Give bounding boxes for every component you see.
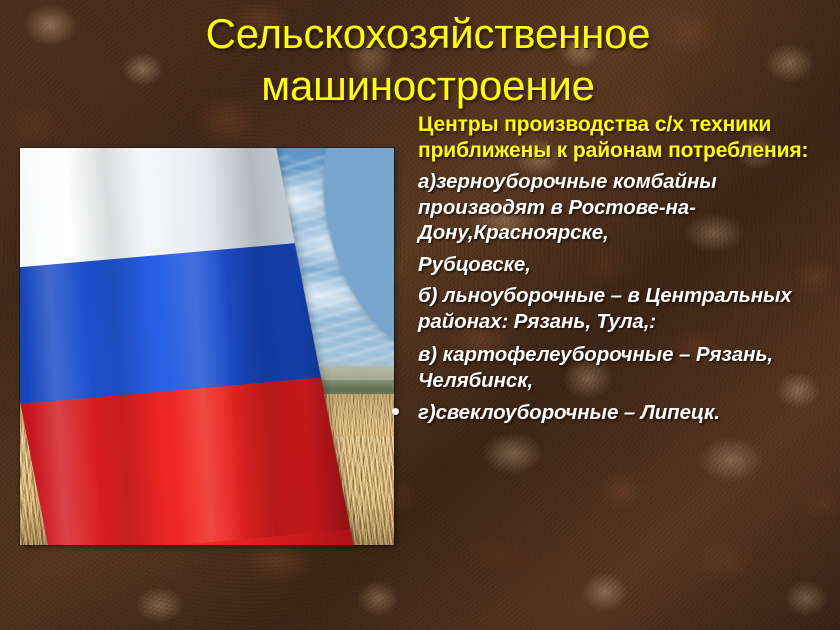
presentation-slide: Сельскохозяйственное машиностроение [0,0,840,630]
body-paragraph-b: б) льноуборочные – в Центральных районах… [418,283,830,334]
body-paragraph-g: г)свеклоуборочные – Липецк. [418,400,830,426]
slide-title: Сельскохозяйственное машиностроение [118,8,738,112]
body-paragraph-lead: Центры производства с/х техники приближе… [418,112,830,164]
body-paragraph-a: а)зерноуборочные комбайны производят в Р… [418,169,830,246]
body-bullet-row: г)свеклоуборочные – Липецк. [418,400,830,426]
slide-body-text: Центры производства с/х техники приближе… [418,112,830,426]
body-paragraph-v: в) картофелеуборочные – Рязань, Челябинс… [418,342,830,393]
bullet-point-icon [392,408,399,415]
body-paragraph-rubtsovsk: Рубцовске, [418,252,830,278]
slide-photo [20,148,394,545]
